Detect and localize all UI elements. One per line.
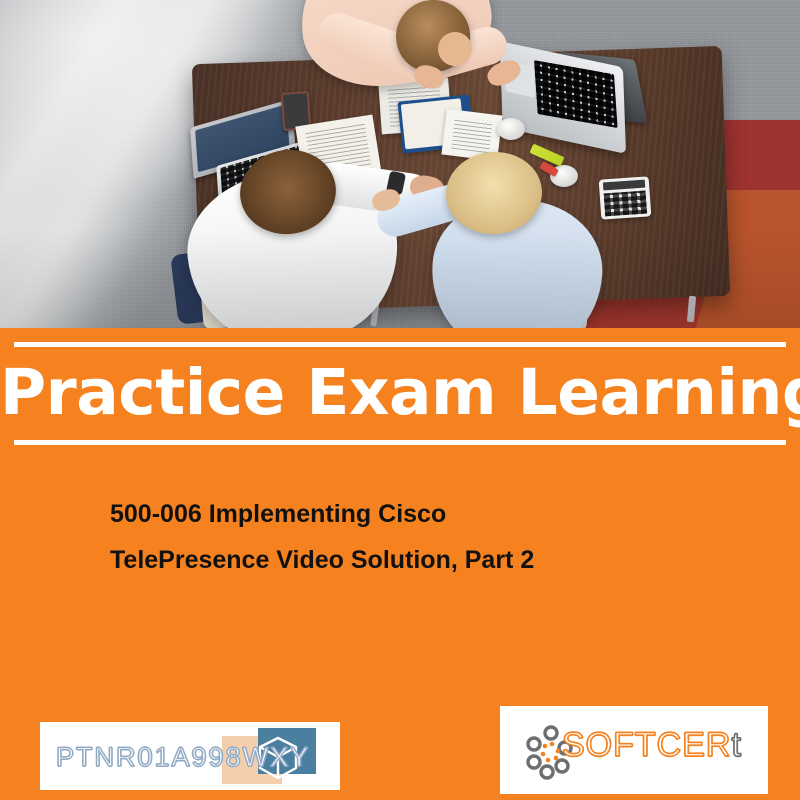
calculator-display bbox=[603, 180, 645, 191]
softcert-logo: SOFTCERt bbox=[500, 706, 768, 794]
exam-subtitle-line2: TelePresence Video Solution, Part 2 bbox=[110, 537, 710, 583]
exam-subtitle-line1: 500-006 Implementing Cisco bbox=[110, 491, 710, 537]
header-photo bbox=[0, 0, 800, 328]
coffee-cup bbox=[497, 118, 525, 140]
page-title: Practice Exam Learning bbox=[0, 350, 800, 436]
exam-subtitle: 500-006 Implementing Cisco TelePresence … bbox=[110, 491, 710, 583]
partner-logo: PTNR01A998WXY bbox=[40, 722, 340, 790]
exam-cover-page: Practice Exam Learning 500-006 Implement… bbox=[0, 0, 800, 800]
divider-rule-bottom bbox=[14, 440, 786, 445]
calculator-keys bbox=[604, 191, 648, 217]
partner-logo-text: PTNR01A998WXY bbox=[56, 742, 310, 773]
softcert-logo-suffix: t bbox=[731, 726, 741, 764]
divider-rule-top bbox=[14, 342, 786, 347]
softcert-logo-main: SOFTCER bbox=[562, 726, 731, 764]
calculator bbox=[599, 176, 652, 219]
softcert-logo-text: SOFTCERt bbox=[562, 726, 742, 765]
